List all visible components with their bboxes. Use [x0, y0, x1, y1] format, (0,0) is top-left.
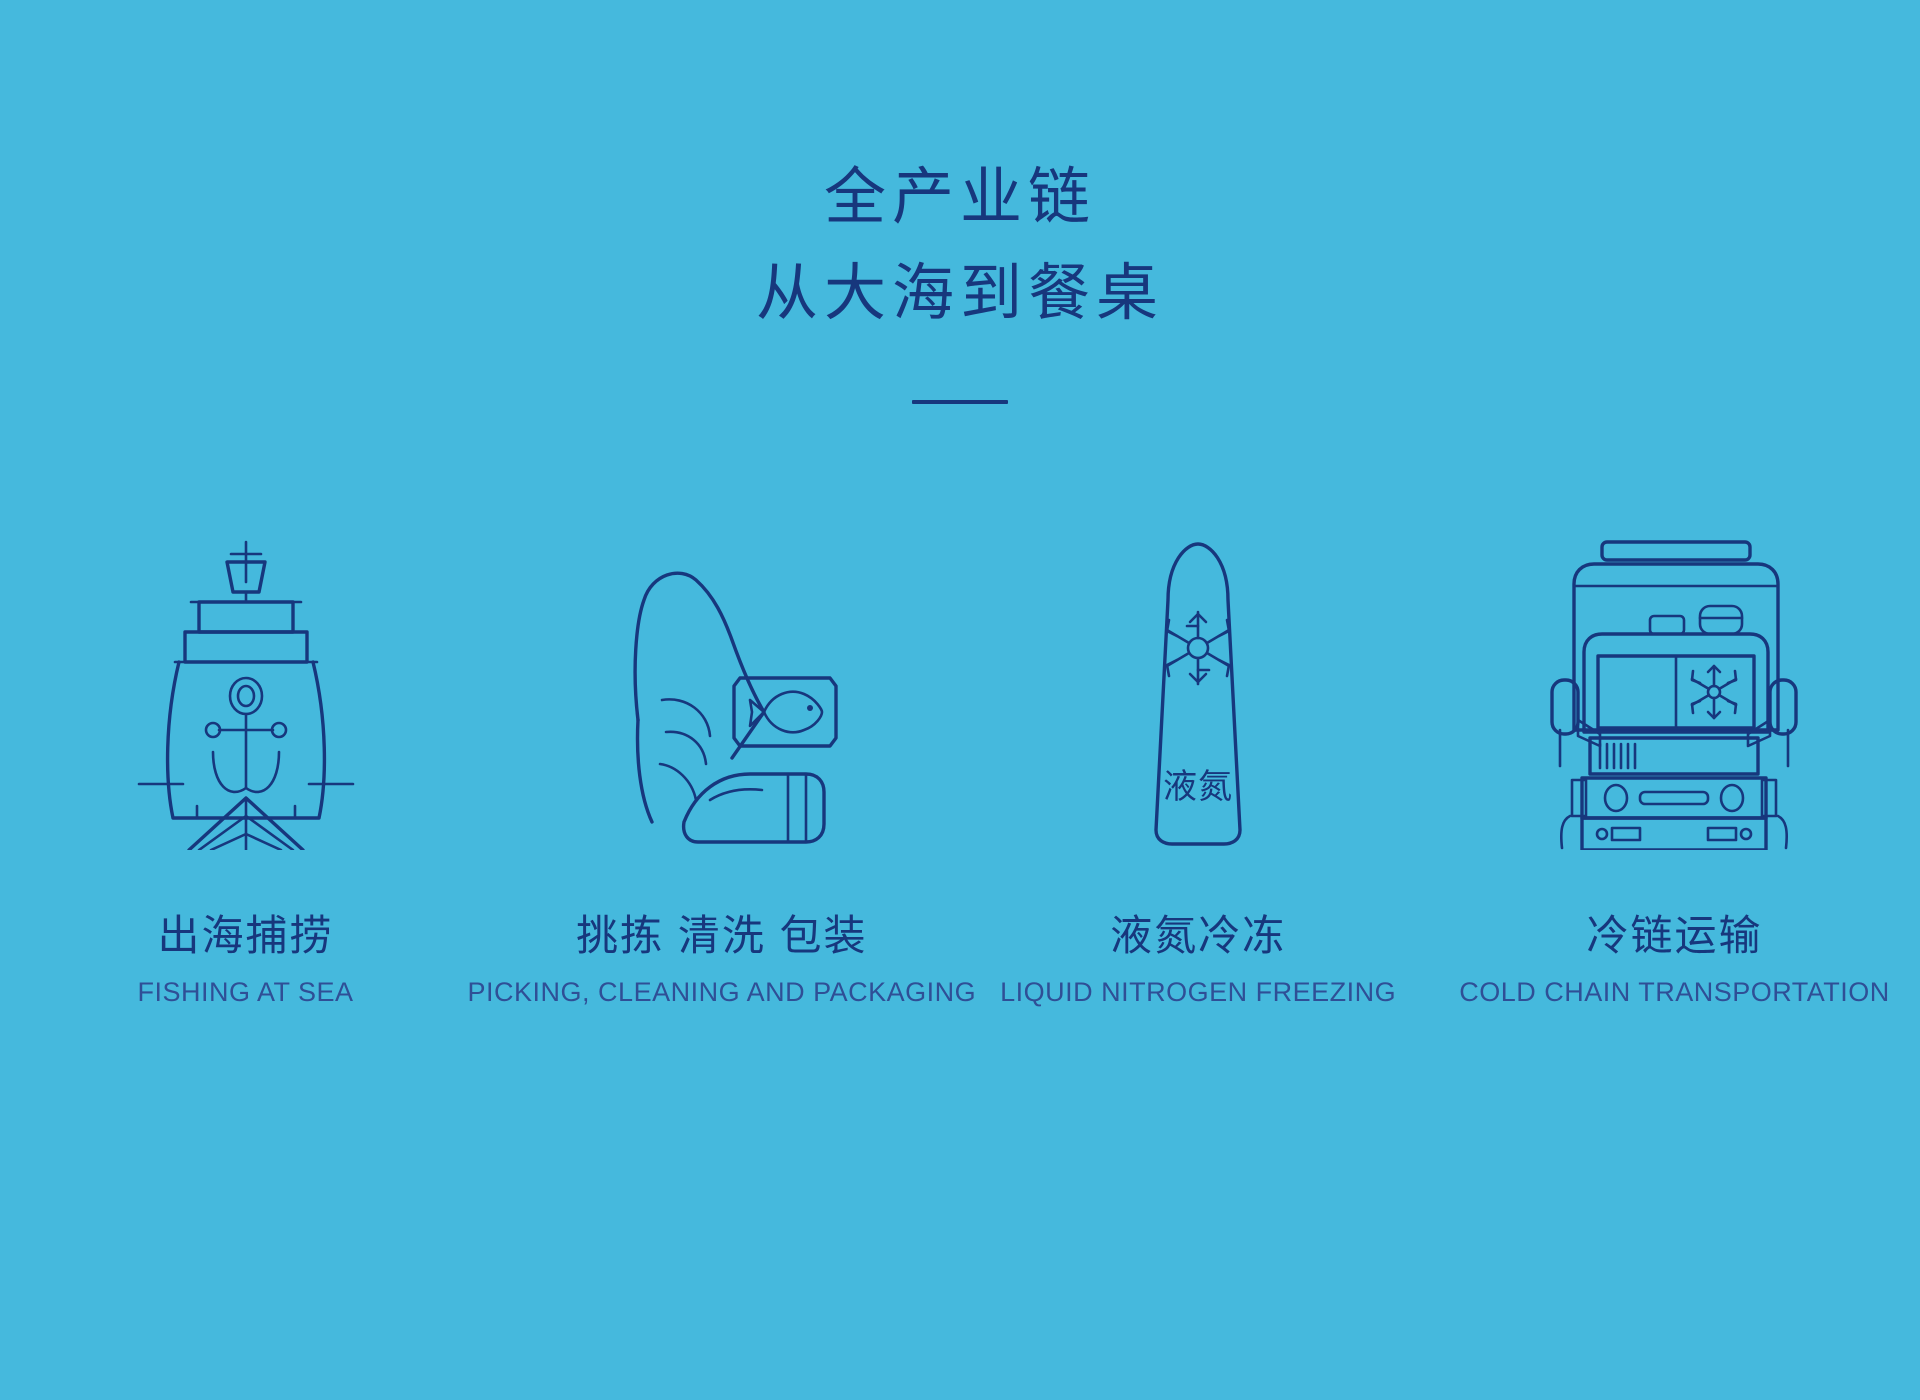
step-2-labels: 挑拣 清洗 包装 PICKING, CLEANING AND PACKAGING: [468, 910, 977, 1012]
tank-text: 液氮: [1163, 768, 1233, 806]
page-title-line-2: 从大海到餐桌: [0, 246, 1920, 342]
step-3-artwork: 液氮: [1128, 520, 1268, 850]
step-cold-chain-transportation[interactable]: 冷链运输 COLD CHAIN TRANSPORTATION: [1447, 520, 1902, 1012]
fishing-boat-icon: [131, 530, 361, 850]
step-4-label-en: COLD CHAIN TRANSPORTATION: [1459, 972, 1890, 1012]
step-2-label-en: PICKING, CLEANING AND PACKAGING: [468, 972, 977, 1012]
step-fishing-at-sea[interactable]: 出海捕捞 FISHING AT SEA: [18, 520, 473, 1012]
step-2-artwork: [592, 520, 852, 850]
snowflake-icon: [1692, 666, 1736, 718]
step-1-artwork: [131, 520, 361, 850]
step-2-label-cn: 挑拣 清洗 包装: [468, 910, 977, 962]
process-steps: 出海捕捞 FISHING AT SEA: [0, 520, 1920, 1012]
step-4-artwork: [1544, 520, 1804, 850]
refrigerated-truck-icon: [1544, 530, 1804, 850]
step-3-label-en: LIQUID NITROGEN FREEZING: [1000, 972, 1396, 1012]
heading-block: 全产业链 从大海到餐桌: [0, 150, 1920, 404]
step-3-label-cn: 液氮冷冻: [1000, 910, 1396, 962]
step-4-labels: 冷链运输 COLD CHAIN TRANSPORTATION: [1459, 910, 1890, 1012]
liquid-nitrogen-tank-icon: 液氮: [1128, 530, 1268, 850]
page-title-line-1: 全产业链: [0, 150, 1920, 246]
step-3-labels: 液氮冷冻 LIQUID NITROGEN FREEZING: [1000, 910, 1396, 1012]
step-1-label-en: FISHING AT SEA: [137, 972, 353, 1012]
step-4-label-cn: 冷链运输: [1459, 910, 1890, 962]
step-liquid-nitrogen-freezing[interactable]: 液氮 液氮冷冻 LIQUID NITROGEN FREEZING: [971, 520, 1426, 1012]
step-picking-cleaning-packaging[interactable]: 挑拣 清洗 包装 PICKING, CLEANING AND PACKAGING: [494, 520, 949, 1012]
hands-sorting-packaged-fish-icon: [592, 560, 852, 850]
step-1-label-cn: 出海捕捞: [137, 910, 353, 962]
step-1-labels: 出海捕捞 FISHING AT SEA: [137, 910, 353, 1012]
title-divider: [912, 400, 1008, 404]
snowflake-icon: [1167, 612, 1229, 684]
